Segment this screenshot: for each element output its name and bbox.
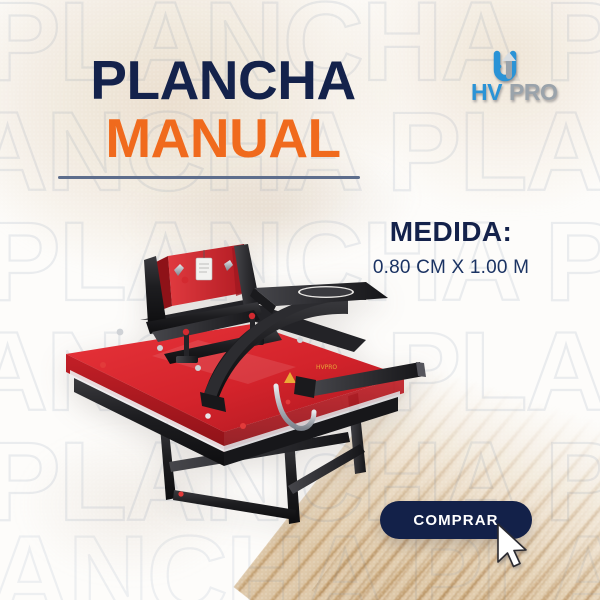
headline-divider bbox=[58, 176, 360, 179]
headline-line-1: PLANCHA bbox=[58, 54, 388, 108]
product-image-heat-press: HVPRO bbox=[48, 236, 448, 526]
spec-label: MEDIDA: bbox=[330, 216, 572, 248]
spec-value: 0.80 CM X 1.00 M bbox=[330, 257, 572, 279]
svg-text:HVPRO: HVPRO bbox=[316, 364, 337, 371]
comprar-button[interactable]: COMPRAR bbox=[380, 501, 532, 539]
logo-text-hv: HV bbox=[471, 79, 503, 105]
spec-block: MEDIDA: 0.80 CM X 1.00 M bbox=[330, 216, 572, 279]
promo-banner: PLANCHA PLANCHA PLANCHA PLANCHA PLANCHA … bbox=[0, 0, 600, 600]
nu-arrow-loop-icon bbox=[497, 52, 516, 78]
brand-logo-hvpro: HV PRO bbox=[465, 48, 565, 110]
logo-text-pro: PRO bbox=[509, 79, 557, 105]
headline-line-2: MANUAL bbox=[58, 110, 388, 166]
headline-block: PLANCHA MANUAL bbox=[58, 54, 388, 166]
